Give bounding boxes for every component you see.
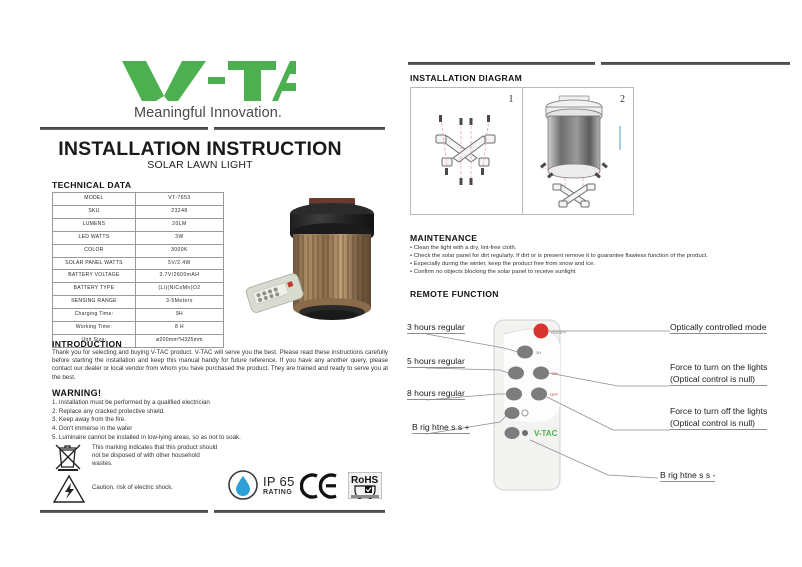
maintenance-list: • Clean the light with a dry, lint-free … [410,244,792,276]
table-row: COLOR3000K [53,244,224,257]
svg-text:V-TAC: V-TAC [534,429,558,438]
installation-diagram-heading: INSTALLATION DIAGRAM [410,73,522,83]
remote-label-force-on-line2: (Optical control is null) [670,374,767,386]
tech-value: 23248 [135,205,223,218]
left-column: Meaningful Innovation. INSTALLATION INST… [0,0,400,567]
remote-function-diagram: ON/OFF 3H ON OFF V-TAC [408,300,798,500]
tech-key: BATTERY VOLTAGE [53,270,136,283]
remote-label-optical-mode: Optically controlled mode [670,322,767,334]
remote-label-force-off: Force to turn off the lights (Optical co… [670,406,767,430]
tech-key: SOLAR PANEL WATTS [53,257,136,270]
remote-label-brightness-down: B rig htne s s - [660,470,715,482]
warning-item: 3. Keep away from the fire. [52,416,388,424]
tech-key: BATTERY TYPE [53,283,136,296]
tech-key: SKU [53,205,136,218]
maintenance-item: • Especially during the winter, keep the… [410,260,792,268]
tech-value: 5V/2.4W [135,257,223,270]
page-title: INSTALLATION INSTRUCTION [0,138,400,161]
warning-item: 1. Installation must be performed by a q… [52,399,388,407]
divider-bottom [40,510,385,513]
remote-function-heading: REMOTE FUNCTION [410,289,499,299]
tech-key: COLOR [53,244,136,257]
remote-label-force-off-line1: Force to turn off the lights [670,406,767,418]
electric-shock-text: Caution, risk of electric shock. [92,484,242,491]
right-column: INSTALLATION DIAGRAM 1 [400,0,802,567]
table-row: Working Time:8 H [53,322,224,335]
divider-top [40,127,385,130]
technical-data-heading: TECHNICAL DATA [52,180,131,190]
tech-key: SENSING RANGE [53,296,136,309]
table-row: SENSING RANGE3-5Meters [53,296,224,309]
remote-label-force-on: Force to turn on the lights (Optical con… [670,362,767,386]
remote-photo [240,268,310,320]
svg-text:3H: 3H [536,350,541,355]
introduction-body: Thank you for selecting and buying V-TAC… [52,349,388,382]
table-row: LED WATTS3W [53,231,224,244]
table-row: MODELVT-7653 [53,193,224,206]
tech-value: 9H [135,309,223,322]
remote-label-5-hours: 5 hours regular [407,356,465,368]
tech-value: 3W [135,231,223,244]
remote-label-brightness-up: B rig htne s s + [412,422,470,434]
table-row: LUMENS20LM [53,218,224,231]
tech-value: 3-5Meters [135,296,223,309]
vtac-logo-mark [120,58,296,104]
svg-text:OFF: OFF [550,392,559,397]
maintenance-item: • Confirm no objects blocking the solar … [410,268,792,276]
installation-diagram: 1 [410,87,634,215]
tech-value: 8 H [135,322,223,335]
diagram-panel-1: 1 [411,88,522,214]
tech-value: ø200mm*H325mm [135,334,223,347]
svg-text:RoHS: RoHS [351,475,379,486]
lamp-assembly-illustration [523,88,633,212]
ground-stake-illustration [411,88,521,212]
weee-notice-text: This marking indicates that this product… [92,444,222,468]
table-row: BATTERY TYPE(Li)(NiCoMn)O2 [53,283,224,296]
tech-key: LUMENS [53,218,136,231]
tech-value: 3000K [135,244,223,257]
weee-bin-icon [52,442,86,472]
tech-key: Charging Time: [53,309,136,322]
diagram-panel-2: 2 [522,88,634,214]
remote-label-force-on-line1: Force to turn on the lights [670,362,767,374]
remote-label-force-off-line2: (Optical control is null) [670,418,767,430]
tech-key: MODEL [53,193,136,206]
ip-rating-word: RATING [263,489,295,496]
page-subtitle: SOLAR LAWN LIGHT [0,159,400,171]
maintenance-item: • Clean the light with a dry, lint-free … [410,244,792,252]
warning-item: 4. Don't immerse in the water [52,425,388,433]
vtac-logo: Meaningful Innovation. [118,58,298,121]
ip-rating-code: IP 65 [263,475,295,488]
tech-key: LED WATTS [53,231,136,244]
rohs-badge: RoHS [348,472,382,504]
warning-item: 5. Luminaire cannot be installed in low-… [52,434,388,442]
table-row: SKU23248 [53,205,224,218]
introduction-heading: INTRODUCTION [52,339,122,349]
warning-list: 1. Installation must be performed by a q… [52,399,388,442]
tech-value: (Li)(NiCoMn)O2 [135,283,223,296]
tech-value: VT-7653 [135,193,223,206]
water-drop-icon [228,470,258,500]
maintenance-heading: MAINTENANCE [410,233,477,243]
warning-item: 2. Replace any cracked protective shield… [52,408,388,416]
installation-instruction-page: Meaningful Innovation. INSTALLATION INST… [0,0,802,567]
technical-data-table: MODELVT-7653SKU23248LUMENS20LMLED WATTS3… [52,192,224,348]
warning-heading: WARNING! [52,388,101,398]
brand-tagline: Meaningful Innovation. [118,105,298,121]
remote-label-3-hours: 3 hours regular [407,322,465,334]
tech-key: Working Time: [53,322,136,335]
tech-value: 20LM [135,218,223,231]
ce-mark-icon [300,472,340,505]
electric-shock-icon [52,474,86,504]
maintenance-item: • Check the solar panel for dirt regular… [410,252,792,260]
table-row: BATTERY VOLTAGE3.7V/2600mAH [53,270,224,283]
divider-right-top [408,62,790,65]
ip-rating-badge: IP 65 RATING [228,470,295,500]
table-row: Charging Time:9H [53,309,224,322]
technical-data-body: MODELVT-7653SKU23248LUMENS20LMLED WATTS3… [53,193,224,348]
table-row: SOLAR PANEL WATTS5V/2.4W [53,257,224,270]
tech-value: 3.7V/2600mAH [135,270,223,283]
remote-label-8-hours: 8 hours regular [407,388,465,400]
